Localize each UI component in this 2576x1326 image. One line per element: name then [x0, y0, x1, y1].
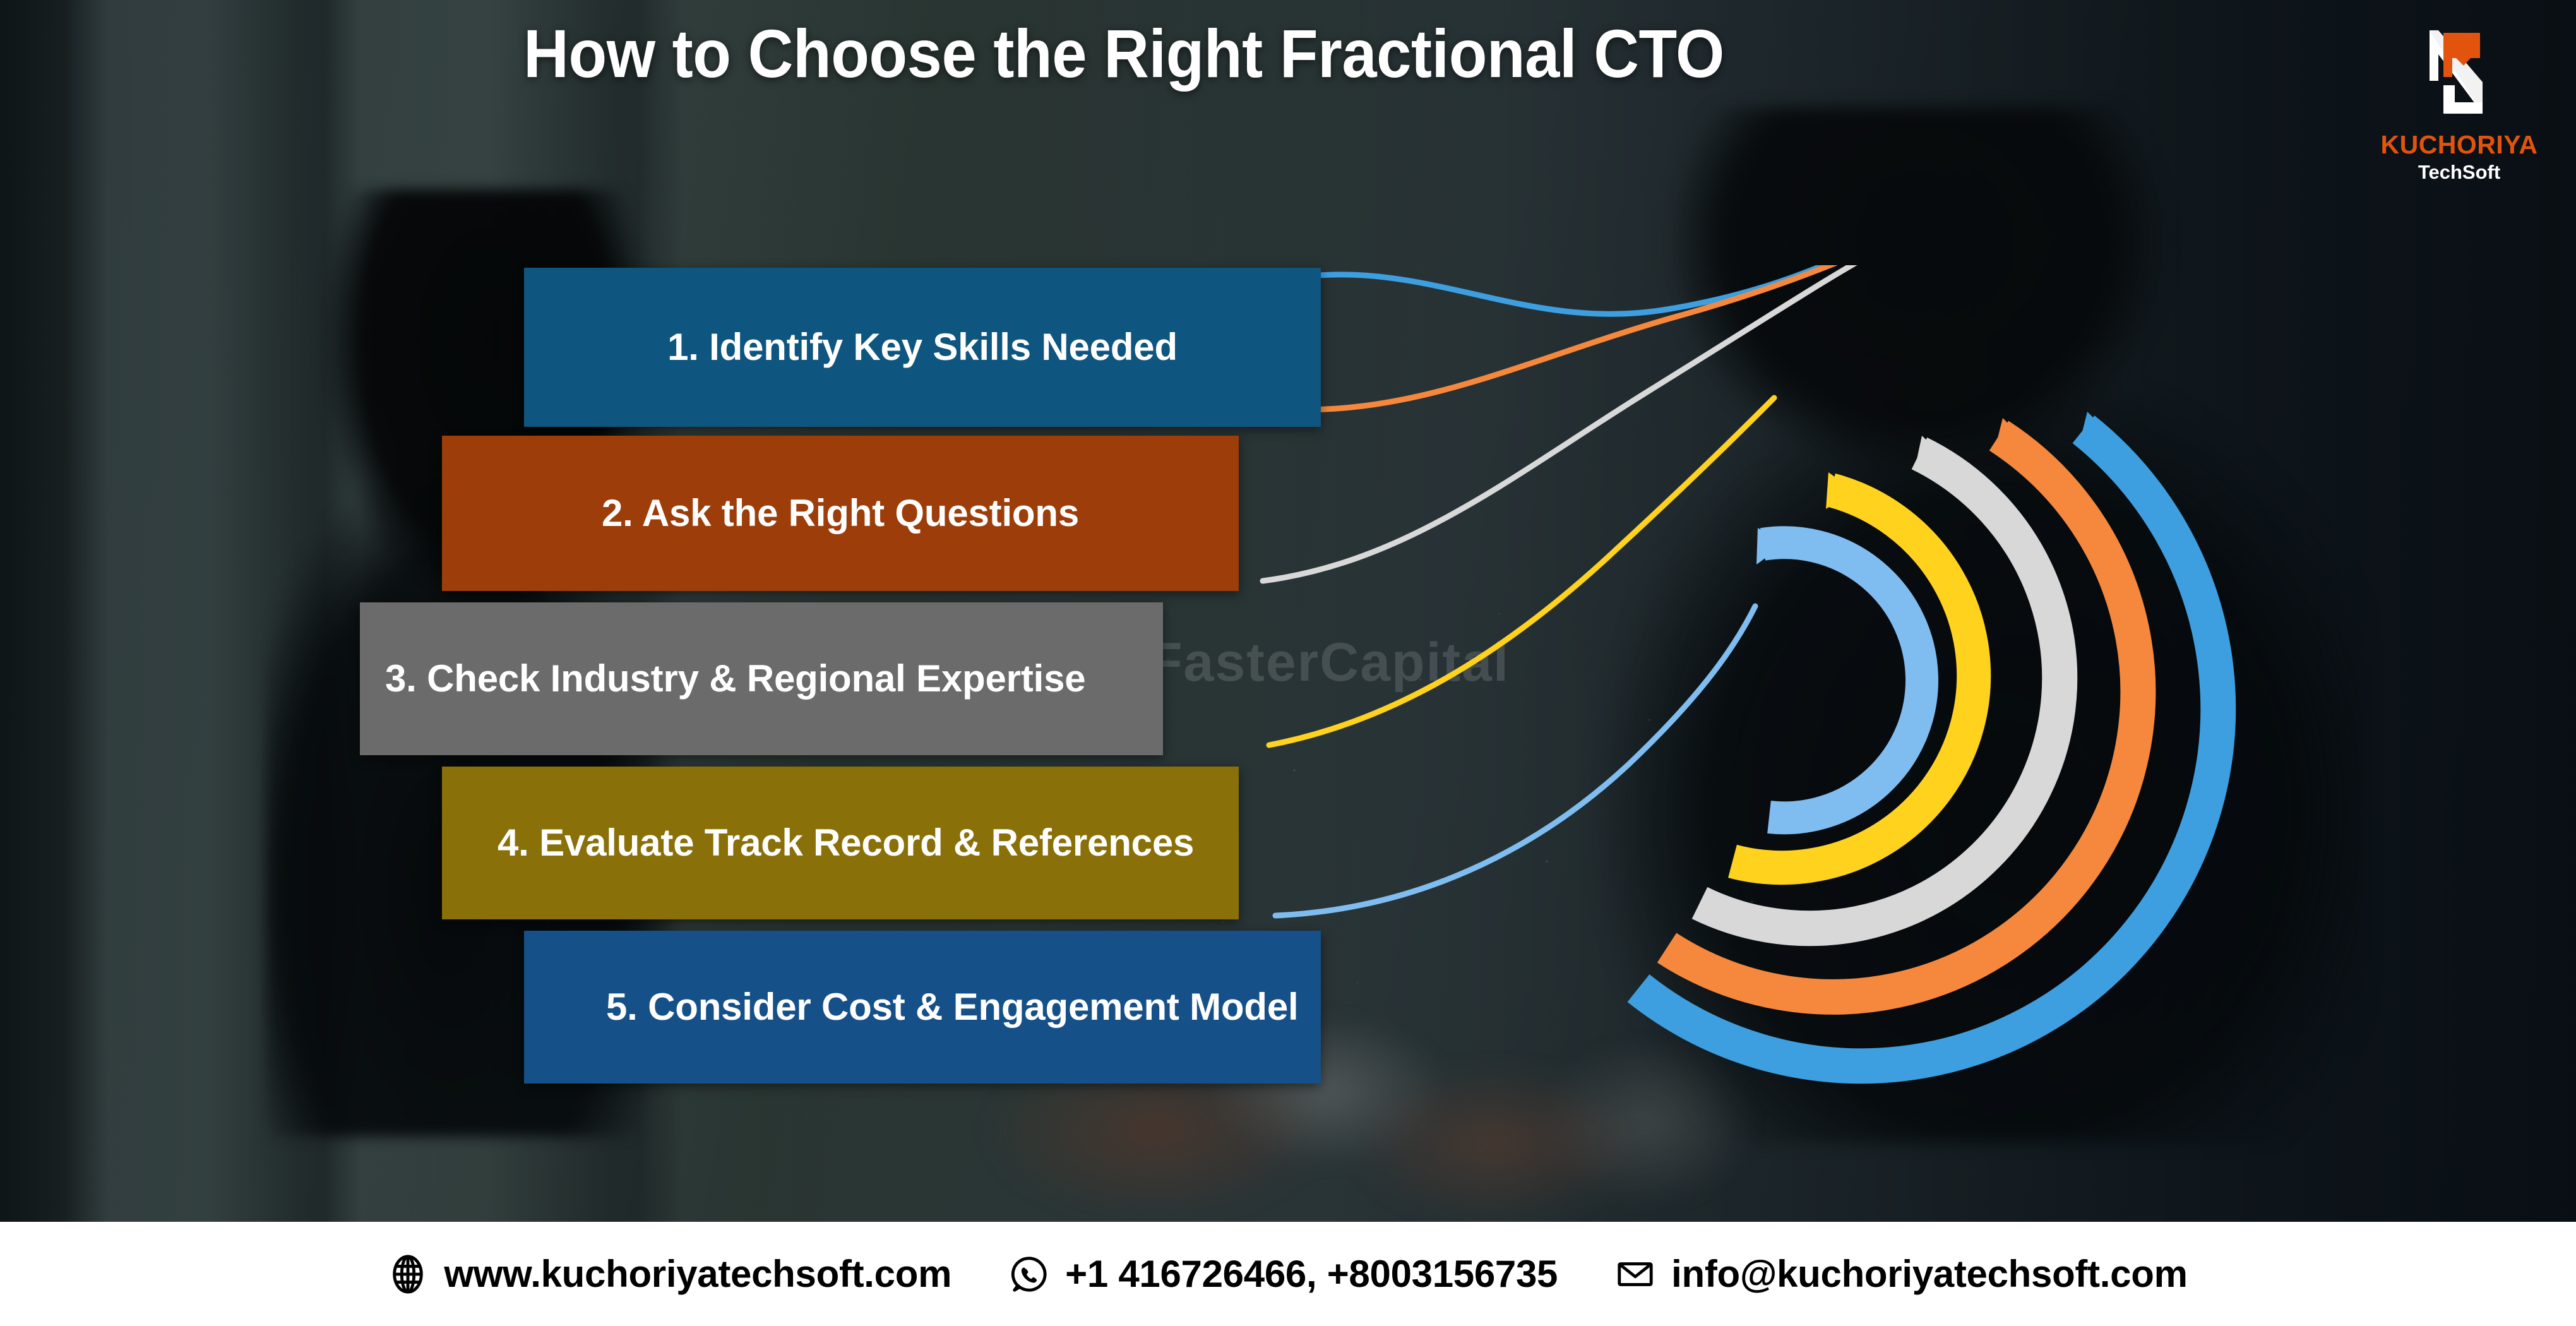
footer-phone[interactable]: +1 416726466, +8003156735 [1010, 1252, 1558, 1296]
page-title: How to Choose the Right Fractional CTO [90, 16, 2157, 92]
whatsapp-icon [1010, 1255, 1049, 1294]
step-box-2[interactable]: 2. Ask the Right Questions [442, 436, 1239, 591]
connector-line-2-orange [1256, 265, 1932, 410]
infographic-canvas: FasterCapital [0, 0, 2576, 1326]
footer-website-text: www.kuchoriyatechsoft.com [444, 1252, 951, 1296]
step-box-1[interactable]: 1. Identify Key Skills Needed [524, 268, 1321, 427]
footer-phone-text: +1 416726466, +8003156735 [1065, 1252, 1558, 1296]
step-label-4: 4. Evaluate Track Record & References [498, 821, 1239, 865]
brand-name: KUCHORIYA [2371, 132, 2548, 158]
step-box-5[interactable]: 5. Consider Cost & Engagement Model [524, 931, 1321, 1084]
brand-subname: TechSoft [2371, 162, 2548, 182]
connector-line-5-light-blue [1275, 606, 1755, 916]
footer-email[interactable]: info@kuchoriyatechsoft.com [1616, 1252, 2188, 1296]
globe-icon [388, 1255, 427, 1294]
step-box-4[interactable]: 4. Evaluate Track Record & References [442, 767, 1239, 919]
footer-website[interactable]: www.kuchoriyatechsoft.com [388, 1252, 951, 1296]
envelope-icon [1616, 1255, 1655, 1294]
kuchoriya-k-monogram-icon [2406, 19, 2513, 129]
step-box-3[interactable]: 3. Check Industry & Regional Expertise [360, 602, 1163, 755]
footer-email-text: info@kuchoriyatechsoft.com [1671, 1252, 2188, 1296]
step-label-5: 5. Consider Cost & Engagement Model [606, 985, 1321, 1029]
connector-lines [1250, 265, 2071, 1099]
step-label-1: 1. Identify Key Skills Needed [549, 325, 1296, 369]
brand-logo[interactable]: KUCHORIYA TechSoft [2371, 19, 2548, 182]
contact-footer-bar: www.kuchoriyatechsoft.com +1 416726466, … [0, 1222, 2576, 1326]
step-label-3: 3. Check Industry & Regional Expertise [385, 657, 1163, 701]
step-label-2: 2. Ask the Right Questions [467, 491, 1213, 535]
